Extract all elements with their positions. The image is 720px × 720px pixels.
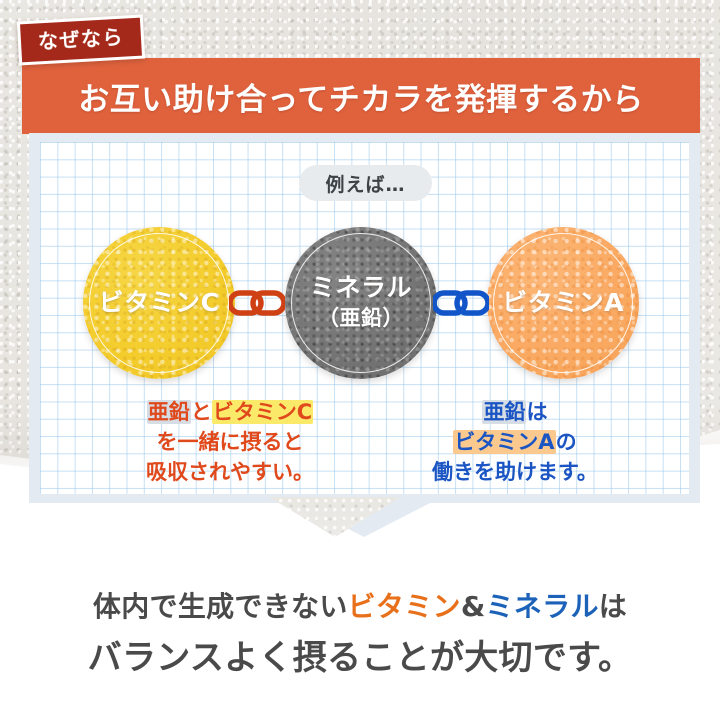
header-band: お互い助け合ってチカラを発揮するから [22,58,700,134]
caption-segment: の [556,430,577,454]
caption-line: ビタミンAの [432,428,598,458]
circle-vitamin-c-label: ビタミンC [99,289,220,318]
conclusion-line-1: 体内で生成できないビタミン&ミネラルは [0,585,720,625]
reason-badge: なぜなら [17,15,145,66]
caption-line: 亜鉛は [432,398,598,428]
chain-link-right-icon [433,287,489,319]
caption-segment: と [191,400,212,424]
conclusion-segment: 体内で生成できない [93,590,348,623]
conclusion-segment: & [461,590,486,623]
circle-mineral-sublabel: （亜鉛） [318,305,404,332]
caption-segment: 吸収されやすい。 [146,460,314,484]
circle-mineral-zinc: ミネラル （亜鉛） [285,227,437,379]
caption-segment: 働きを助けます。 [432,460,598,484]
circle-vitamin-a: ビタミンA [487,227,639,379]
caption-line: 働きを助けます。 [432,458,598,488]
header-title: お互い助け合ってチカラを発揮するから [22,58,700,134]
caption-segment: ビタミンA [453,430,555,454]
conclusion-segment: バランスよく摂ることが大切です。 [88,638,633,678]
conclusion-segment: ミネラル [486,590,599,623]
conclusion-segment: は [599,590,627,623]
chain-link-left-icon [229,287,285,319]
conclusion-segment: ビタミン [348,590,461,623]
infographic-stage: お互い助け合ってチカラを発揮するから なぜなら 例えば… ビタミンC ミネラル … [0,0,720,720]
reason-badge-label: なぜなら [17,15,145,66]
caption-left: 亜鉛とビタミンCを一緒に摂ると吸収されやすい。 [146,398,314,487]
caption-segment: を一緒に摂ると [157,430,304,454]
circle-vitamin-a-label: ビタミンA [502,289,624,318]
example-pill: 例えば… [299,165,432,201]
caption-line: を一緒に摂ると [146,428,314,458]
example-pill-label: 例えば… [325,170,405,197]
conclusion-line-2: バランスよく摂ることが大切です。 [0,630,720,679]
caption-line: 亜鉛とビタミンC [146,398,314,428]
caption-line: 吸収されやすい。 [146,458,314,488]
caption-segment: 亜鉛 [482,400,526,424]
circle-mineral-label: ミネラル [310,274,412,303]
caption-segment: 亜鉛 [147,400,191,424]
caption-segment: ビタミンC [212,400,313,424]
caption-segment: は [526,400,547,424]
caption-right: 亜鉛はビタミンAの働きを助けます。 [432,398,598,487]
circle-vitamin-c: ビタミンC [83,227,235,379]
